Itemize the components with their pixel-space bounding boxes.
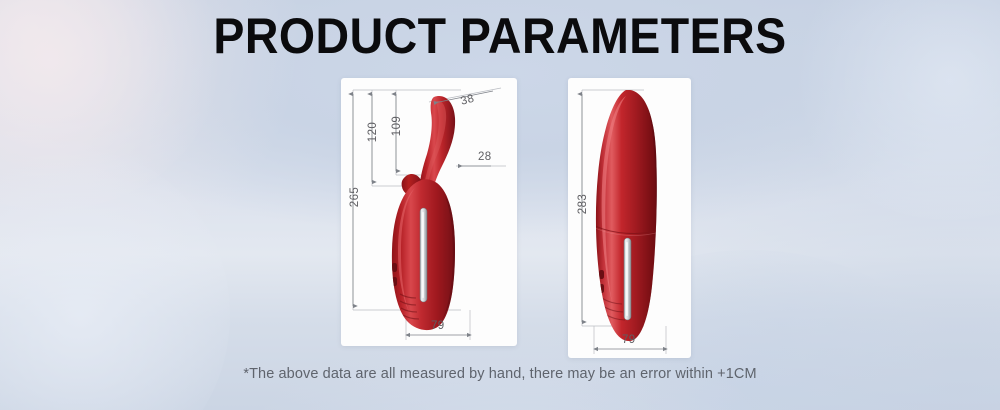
- dimension-label-body-width: 79: [431, 320, 445, 332]
- page-title: PRODUCT PARAMETERS: [35, 8, 965, 64]
- measurement-disclaimer: *The above data are all measured by hand…: [0, 366, 1000, 382]
- product-parameters-banner: PRODUCT PARAMETERS: [0, 0, 1000, 410]
- dimension-label-body-width-side: 79: [622, 334, 636, 346]
- dimension-label-total-height: 265: [349, 180, 361, 214]
- chrome-accent-slot: [624, 238, 631, 320]
- dimension-label-total-length: 283: [577, 184, 589, 224]
- product-illustration-side: [595, 90, 660, 341]
- chrome-accent-slot: [420, 208, 427, 302]
- dimension-label-shaft-height: 109: [391, 109, 403, 143]
- dimension-label-shaft-diameter: 28: [478, 151, 492, 163]
- product-front-view-panel: 265 120 109 38 28 79: [341, 78, 517, 346]
- product-side-view-panel: 283 79: [568, 78, 691, 358]
- dimension-label-arm-height: 120: [367, 115, 379, 149]
